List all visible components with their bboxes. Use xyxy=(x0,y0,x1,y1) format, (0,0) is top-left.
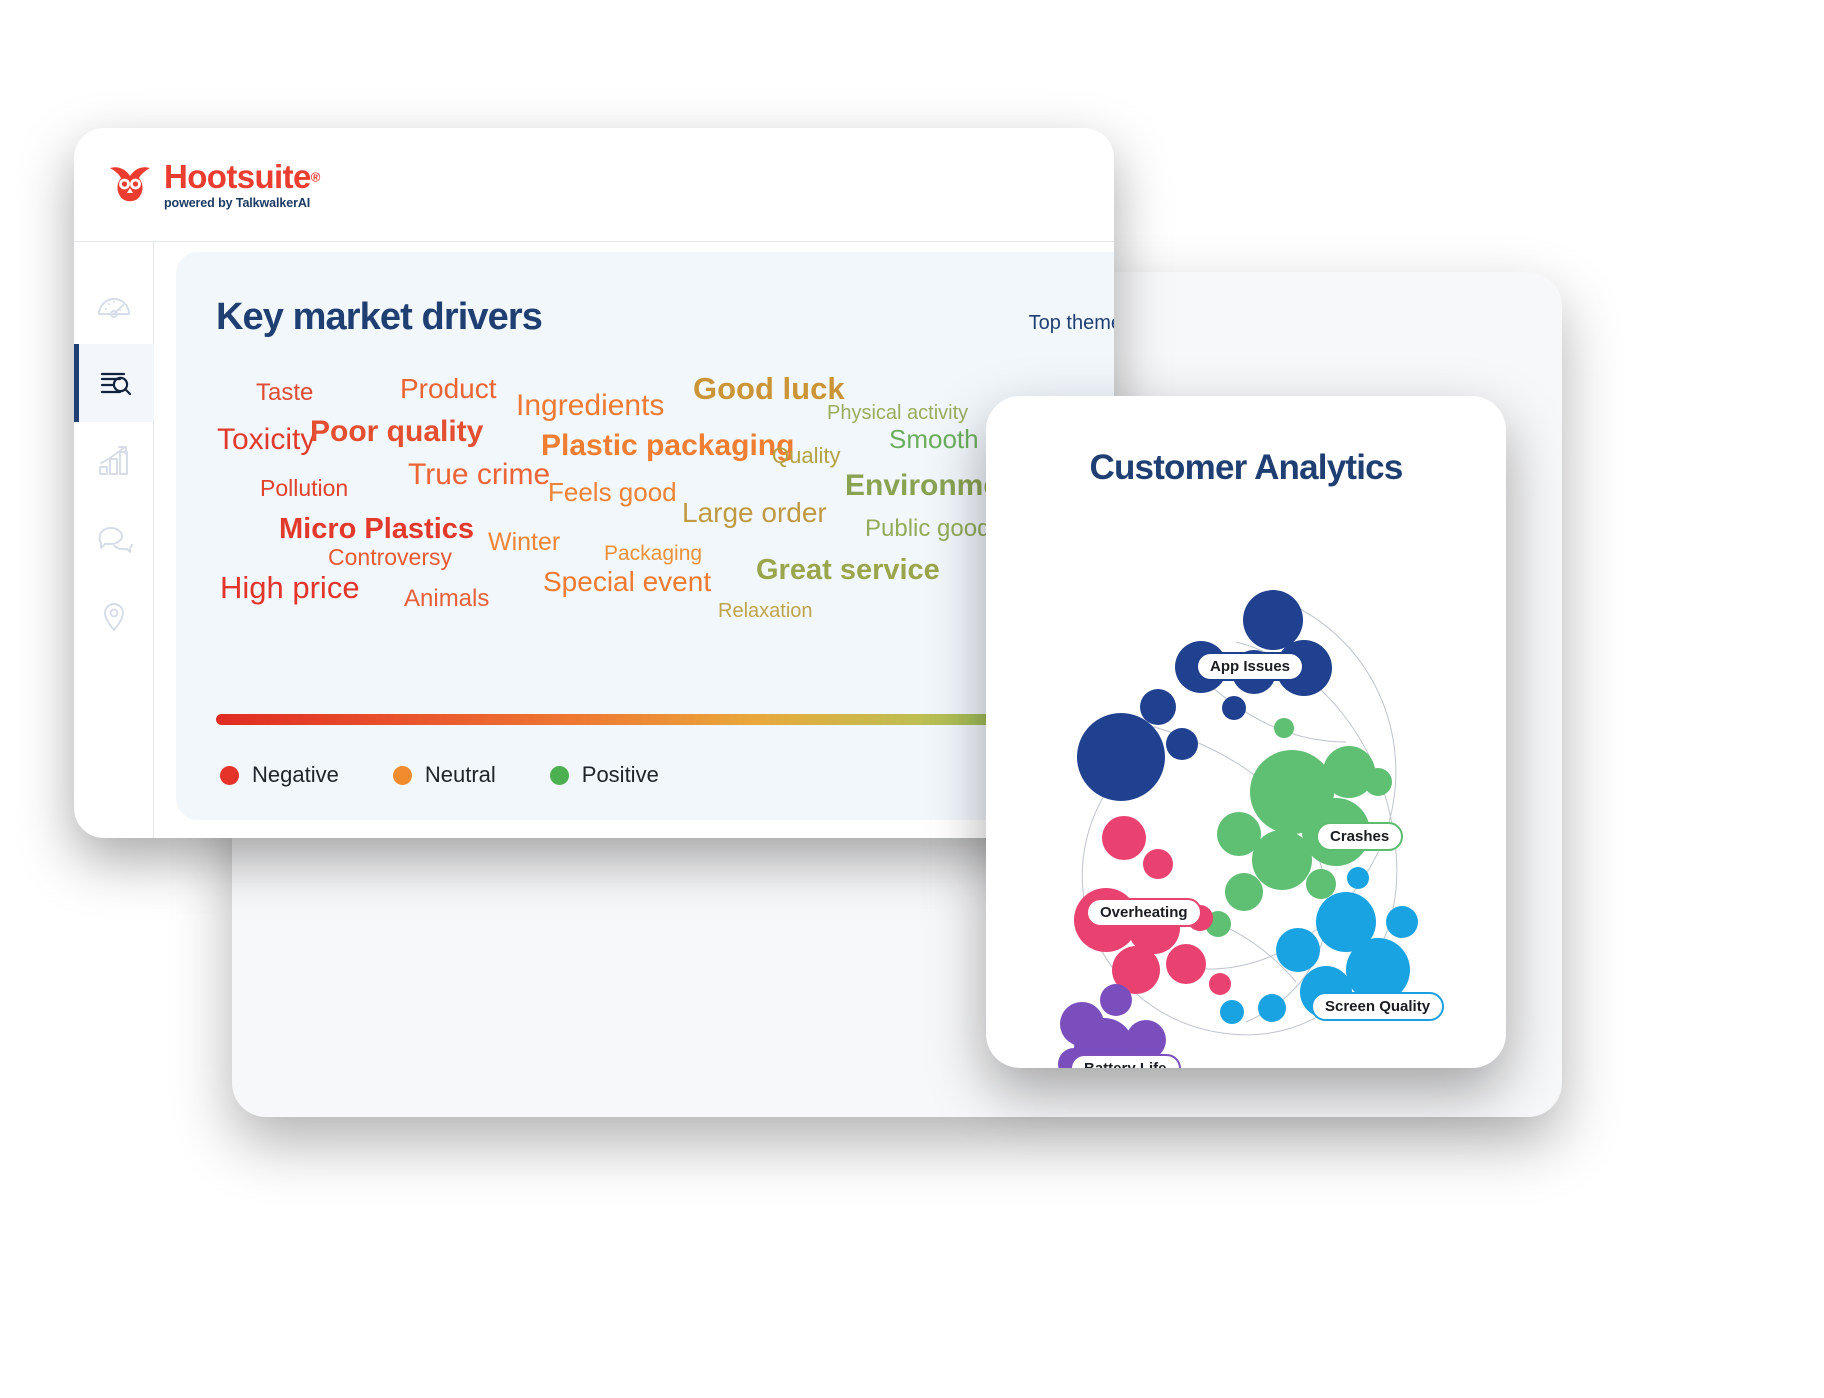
word-cloud-term[interactable]: Great service xyxy=(756,556,940,585)
word-cloud-term[interactable]: Physical activity xyxy=(827,403,968,423)
brand-registered-mark: ® xyxy=(311,169,321,184)
brand-tagline: powered by TalkwalkerAI xyxy=(164,197,320,210)
bubble-cluster-chart: App IssuesCrashesOverheatingScreen Quali… xyxy=(986,492,1506,1068)
sidebar-item-conversations[interactable] xyxy=(74,500,154,578)
dashboard-window: Hootsuite® powered by TalkwalkerAI xyxy=(74,128,1114,838)
legend-item: Neutral xyxy=(393,762,496,788)
word-cloud-term[interactable]: Ingredients xyxy=(516,391,664,421)
gauge-icon xyxy=(94,285,134,325)
word-cloud-term[interactable]: True crime xyxy=(408,460,550,490)
sidebar-item-analytics[interactable] xyxy=(74,422,154,500)
screenshot-stage: Hootsuite® powered by TalkwalkerAI xyxy=(0,0,1824,1398)
search-list-icon xyxy=(94,363,134,403)
word-cloud-term[interactable]: Packaging xyxy=(604,543,702,564)
word-cloud-term[interactable]: Taste xyxy=(256,381,313,405)
sidebar xyxy=(74,242,154,838)
cluster-label[interactable]: Battery Life xyxy=(1070,1054,1181,1068)
sidebar-item-search[interactable] xyxy=(74,344,154,422)
word-cloud-term[interactable]: Animals xyxy=(404,587,489,611)
content-area: Key market drivers Top themes TasteProdu… xyxy=(154,242,1114,838)
bar-chart-trend-icon xyxy=(94,441,134,481)
word-cloud-term[interactable]: Plastic packaging xyxy=(541,431,794,461)
legend-dot-icon xyxy=(220,766,239,785)
sidebar-item-locations[interactable] xyxy=(74,578,154,656)
word-cloud-term[interactable]: Poor quality xyxy=(310,417,483,447)
word-cloud-term[interactable]: Good luck xyxy=(693,373,845,404)
legend-label: Positive xyxy=(582,762,659,788)
brand-header: Hootsuite® powered by TalkwalkerAI xyxy=(74,128,1114,242)
panel-header: Key market drivers Top themes xyxy=(216,296,1114,339)
sentiment-legend: NegativeNeutralPositive xyxy=(220,762,659,788)
word-cloud-term[interactable]: Micro Plastics xyxy=(279,515,474,544)
word-cloud-term[interactable]: Feels good xyxy=(548,479,677,505)
key-market-drivers-panel: Key market drivers Top themes TasteProdu… xyxy=(176,252,1114,820)
sentiment-gradient-bar xyxy=(216,714,1114,725)
word-cloud-term[interactable]: High price xyxy=(220,572,360,603)
word-cloud: TasteProductIngredientsGood luckPhysical… xyxy=(216,363,1114,631)
top-themes-label: Top themes xyxy=(1029,312,1114,335)
legend-label: Neutral xyxy=(425,762,496,788)
brand-name: Hootsuite xyxy=(164,160,311,193)
chat-bubbles-icon xyxy=(94,519,134,559)
location-pin-icon xyxy=(94,597,134,637)
word-cloud-term[interactable]: Quality xyxy=(772,445,840,467)
word-cloud-term[interactable]: Winter xyxy=(488,530,560,555)
legend-item: Negative xyxy=(220,762,339,788)
word-cloud-term[interactable]: Smooth xyxy=(889,426,979,452)
analytics-title: Customer Analytics xyxy=(986,448,1506,488)
word-cloud-term[interactable]: Pollution xyxy=(260,477,348,500)
sidebar-item-dashboard[interactable] xyxy=(74,266,154,344)
customer-analytics-window: Customer Analytics xyxy=(986,396,1506,1068)
word-cloud-term[interactable]: Relaxation xyxy=(718,601,813,621)
legend-dot-icon xyxy=(393,766,412,785)
legend-dot-icon xyxy=(550,766,569,785)
cluster-label[interactable]: Crashes xyxy=(1316,822,1403,851)
word-cloud-term[interactable]: Product xyxy=(400,375,497,403)
cluster-label[interactable]: Overheating xyxy=(1086,898,1202,927)
owl-icon xyxy=(107,163,153,207)
word-cloud-term[interactable]: Toxicity xyxy=(217,425,315,455)
page-title: Key market drivers xyxy=(216,296,542,339)
legend-label: Negative xyxy=(252,762,339,788)
word-cloud-term[interactable]: Large order xyxy=(682,499,827,527)
word-cloud-term[interactable]: Special event xyxy=(543,568,711,596)
card-body: Key market drivers Top themes TasteProdu… xyxy=(74,242,1114,838)
word-cloud-term[interactable]: Public good xyxy=(865,517,990,541)
cluster-label[interactable]: App Issues xyxy=(1196,652,1304,681)
bubble-chart-svg xyxy=(986,492,1506,1068)
legend-item: Positive xyxy=(550,762,659,788)
word-cloud-term[interactable]: Controversy xyxy=(328,546,452,569)
cluster-label[interactable]: Screen Quality xyxy=(1311,992,1444,1021)
